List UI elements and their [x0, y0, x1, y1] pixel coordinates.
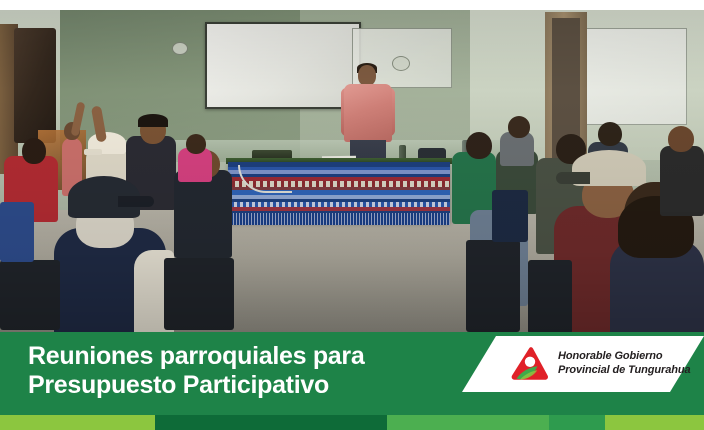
- segment-light-green-2: [605, 415, 704, 430]
- logo-panel: Honorable Gobierno Provincial de Tungura…: [462, 336, 704, 392]
- presenter-head: [358, 65, 376, 86]
- logo-text-line-2: Provincial de Tungurahua: [558, 363, 690, 377]
- logo-wordmark: Honorable Gobierno Provincial de Tungura…: [558, 349, 690, 377]
- chair: [528, 260, 572, 334]
- bottom-color-strip: [0, 415, 704, 430]
- chair: [0, 202, 34, 262]
- segment-light-green-1: [0, 415, 155, 430]
- tablecloth-fringe: [228, 213, 450, 225]
- chair: [466, 240, 520, 332]
- banner-title-line-1: Reuniones parroquiales para: [28, 342, 458, 371]
- chair: [164, 258, 234, 330]
- presenter-shirt: [344, 84, 392, 142]
- projection-screen: [205, 22, 361, 109]
- meeting-photo: [0, 10, 704, 335]
- logo-text-line-1: Honorable Gobierno: [558, 349, 690, 363]
- campaign-banner: Reuniones parroquiales para Presupuesto …: [0, 0, 704, 430]
- banner-title: Reuniones parroquiales para Presupuesto …: [28, 342, 458, 401]
- segment-dark-green-2: [549, 415, 605, 430]
- wall-clock-icon-2: [392, 56, 410, 71]
- tungurahua-volcano-logo-icon: [510, 346, 550, 383]
- chair: [492, 190, 528, 242]
- loudspeaker: [14, 28, 56, 143]
- segment-mid-green: [387, 415, 549, 430]
- banner-title-line-2: Presupuesto Participativo: [28, 371, 458, 400]
- chair: [0, 260, 60, 330]
- segment-dark-green-1: [155, 415, 387, 430]
- whiteboard: [585, 28, 687, 125]
- wall-clock-icon: [172, 42, 188, 55]
